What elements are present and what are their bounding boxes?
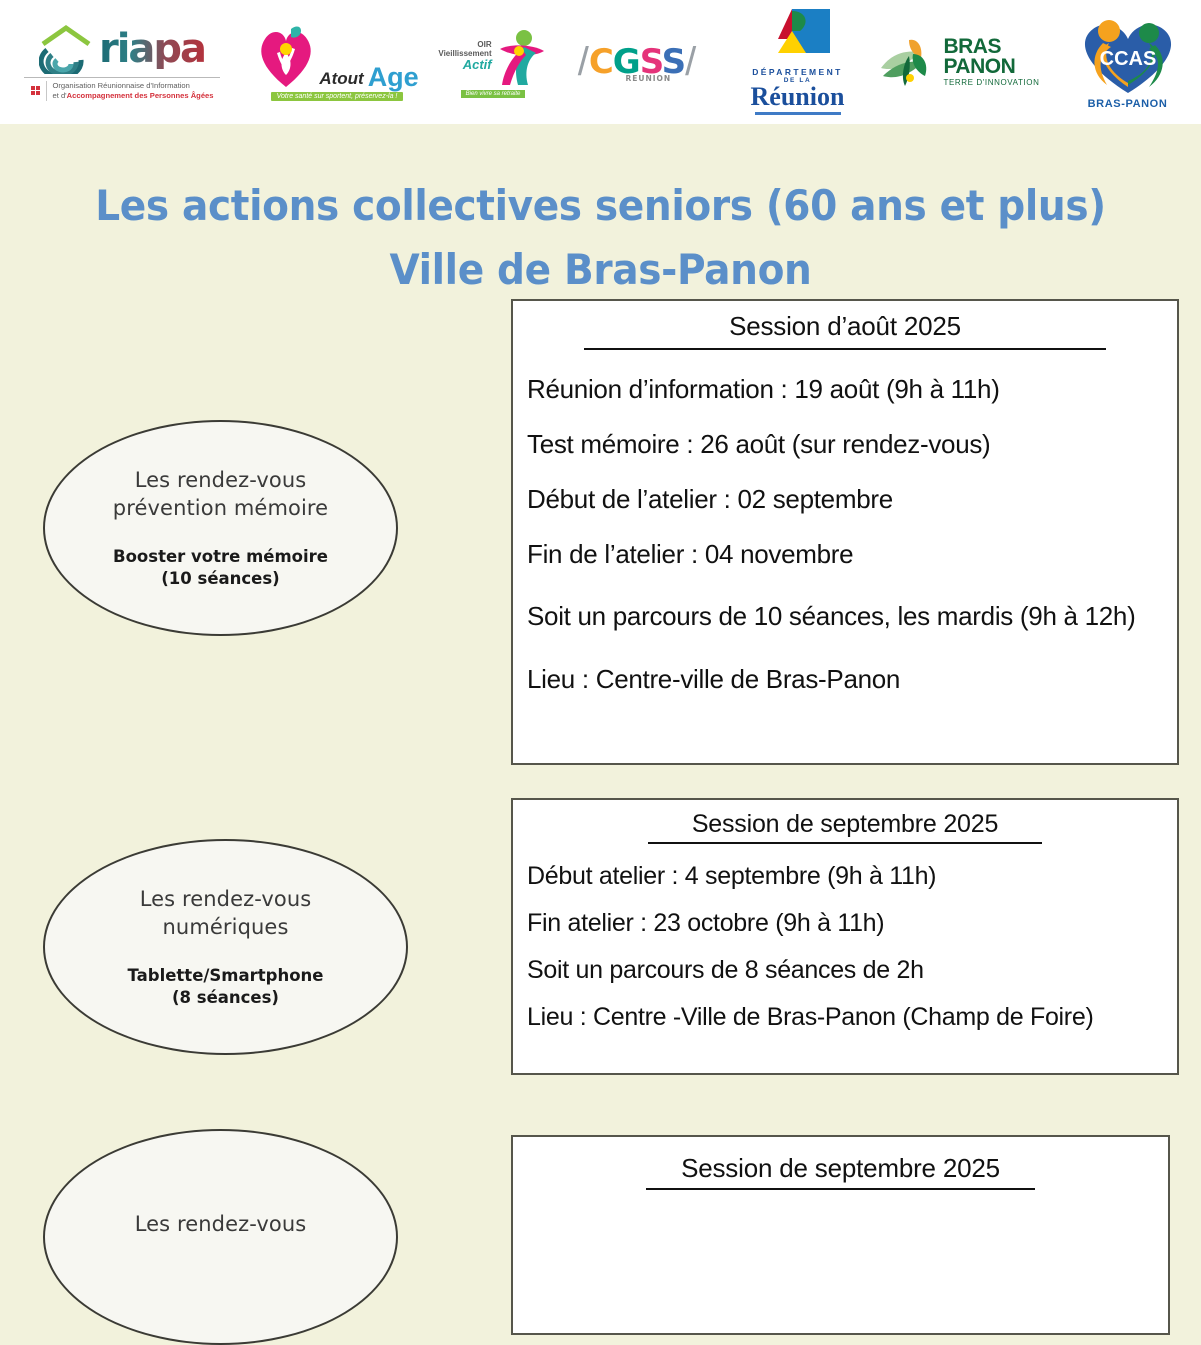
topic-title-line2: prévention mémoire <box>113 495 328 523</box>
atout-age-tagline: Votre santé sur sportent, préservez-la ! <box>271 92 404 101</box>
session-box-2-line-3: Soit un parcours de 8 séances de 2h <box>527 956 1163 985</box>
cgss-letters: CGSSREUNION <box>589 45 685 79</box>
atout-age-logo: Atout Age Votre santé sur sportent, prés… <box>262 0 412 124</box>
topic-title-line1: Les rendez-vous <box>140 886 312 914</box>
topic-ellipse-memoire-title: Les rendez-vous prévention mémoire <box>113 467 328 522</box>
session-box-1-line-2: Test mémoire : 26 août (sur rendez-vous) <box>527 429 1163 460</box>
vieillissement-actif-text: OIR Vieillissement Actif <box>438 41 491 71</box>
cgss-sublabel: REUNION <box>625 75 671 83</box>
session-box-1-line-6: Lieu : Centre-ville de Bras-Panon <box>527 664 1163 695</box>
riapa-wordmark: riapa <box>99 29 205 69</box>
departement-r-mark-icon <box>766 9 830 65</box>
departement-reunion-logo: DÉPARTEMENT DE LA Réunion <box>735 0 860 124</box>
riapa-logo: riapa Organisation Réunionnaise d'Inform… <box>8 0 236 124</box>
atout-word: Atout <box>319 69 363 89</box>
poster-page: riapa Organisation Réunionnaise d'Inform… <box>0 0 1201 1201</box>
bras-panon-words: BRAS PANON TERRE D'INNOVATION <box>943 37 1039 86</box>
leaf-flower-icon <box>879 34 937 90</box>
cgss-letter-c: C <box>589 42 613 82</box>
session-box-2-heading: Session de septembre 2025 <box>527 810 1163 839</box>
reunion-label: Réunion <box>751 84 845 110</box>
topic-ellipse-third-title: Les rendez-vous <box>135 1211 307 1239</box>
topic-ellipse-numeriques-title: Les rendez-vous numériques <box>140 886 312 941</box>
topic-ellipse-memoire: Les rendez-vous prévention mémoire Boost… <box>43 420 398 636</box>
topic-title-line1: Les rendez-vous <box>113 467 328 495</box>
departement-label: DÉPARTEMENT <box>752 67 842 77</box>
riapa-dots-icon <box>31 86 40 95</box>
topic-title-line2: numériques <box>140 914 312 942</box>
bras-panon-row: BRAS PANON TERRE D'INNOVATION <box>879 34 1039 90</box>
session-box-1-line-4: Fin de l’atelier : 04 novembre <box>527 539 1163 570</box>
riapa-subtitle-row: Organisation Réunionnaise d'Information … <box>31 81 214 101</box>
session-box-septembre-2025-numerique: Session de septembre 2025 Début atelier … <box>511 798 1179 1075</box>
riapa-tagline-line2-bold: Accompagnement des Personnes Âgées <box>67 91 214 100</box>
topic-sub-line1: Tablette/Smartphone <box>128 965 324 986</box>
session-box-1-heading-rule <box>584 348 1106 350</box>
ccas-caption: BRAS-PANON <box>1088 98 1168 110</box>
ccas-bras-panon-logo: CCAS BRAS-PANON <box>1060 0 1195 124</box>
topic-sub-line2: (10 séances) <box>113 568 328 589</box>
ccas-heart-people-icon: CCAS <box>1073 15 1183 97</box>
session-box-1-heading: Session d’août 2025 <box>527 311 1163 342</box>
topic-title-line1: Les rendez-vous <box>135 1211 307 1239</box>
riapa-tagline-line2-plain: et d' <box>53 91 67 100</box>
bras-panon-logo: BRAS PANON TERRE D'INNOVATION <box>872 0 1047 124</box>
bras-label: BRAS <box>943 37 1039 57</box>
session-box-2-line-4: Lieu : Centre -Ville de Bras-Panon (Cham… <box>527 1003 1163 1032</box>
session-box-2-line-2: Fin atelier : 23 octobre (9h à 11h) <box>527 909 1163 938</box>
vieillissement-actif-tagline: Bien vivre sa retraite <box>461 90 526 98</box>
session-box-septembre-2025-third: Session de septembre 2025 <box>511 1135 1170 1335</box>
session-box-3-heading: Session de septembre 2025 <box>527 1153 1154 1184</box>
cgss-inner: / CGSSREUNION / <box>578 42 697 82</box>
topic-ellipse-third: Les rendez-vous <box>43 1129 398 1345</box>
session-box-2-line-1: Début atelier : 4 septembre (9h à 11h) <box>527 862 1163 891</box>
riapa-vertical-rule <box>46 81 47 101</box>
topic-sub-line1: Booster votre mémoire <box>113 546 328 567</box>
departement-underline <box>755 112 841 115</box>
session-box-3-heading-rule <box>646 1188 1035 1190</box>
vieillissement-actif-row: OIR Vieillissement Actif <box>438 27 547 87</box>
riapa-divider <box>24 77 220 78</box>
bras-panon-tagline: TERRE D'INNOVATION <box>943 79 1039 87</box>
riapa-swirl-icon <box>39 24 95 74</box>
page-title-line2: Ville de Bras-Panon <box>42 238 1159 302</box>
panon-label: PANON <box>943 57 1039 77</box>
session-box-1-line-3: Début de l’atelier : 02 septembre <box>527 484 1163 515</box>
partner-logo-band: riapa Organisation Réunionnaise d'Inform… <box>0 0 1201 124</box>
age-word: Age <box>368 65 419 89</box>
page-title-line1: Les actions collectives seniors (60 ans … <box>95 181 1105 230</box>
session-box-aout-2025: Session d’août 2025 Réunion d’informatio… <box>511 299 1179 765</box>
riapa-tagline: Organisation Réunionnaise d'Information … <box>53 81 214 100</box>
session-box-1-line-1: Réunion d’information : 19 août (9h à 11… <box>527 374 1163 405</box>
session-box-2-heading-rule <box>648 842 1042 844</box>
vieillissement-actif-logo: OIR Vieillissement Actif Bien vivre sa r… <box>438 0 548 124</box>
riapa-top-row: riapa <box>39 24 205 74</box>
cgss-left-slash: / <box>578 42 589 82</box>
cgss-reunion-logo: / CGSSREUNION / <box>572 0 702 124</box>
topic-ellipse-numeriques: Les rendez-vous numériques Tablette/Smar… <box>43 839 408 1055</box>
cgss-right-slash: / <box>685 42 696 82</box>
topic-ellipse-numeriques-subtitle: Tablette/Smartphone (8 séances) <box>128 965 324 1008</box>
session-box-1-line-5: Soit un parcours de 10 séances, les mard… <box>527 592 1163 640</box>
page-title: Les actions collectives seniors (60 ans … <box>42 174 1159 302</box>
topic-ellipse-memoire-subtitle: Booster votre mémoire (10 séances) <box>113 546 328 589</box>
ccas-mark-text: CCAS <box>1099 48 1156 70</box>
actif-label: Actif <box>438 58 491 72</box>
riapa-tagline-line1: Organisation Réunionnaise d'Information <box>53 81 190 90</box>
atout-age-row: Atout Age <box>255 23 418 89</box>
heart-person-icon <box>255 23 317 89</box>
active-person-icon <box>494 27 548 87</box>
topic-sub-line2: (8 séances) <box>128 987 324 1008</box>
